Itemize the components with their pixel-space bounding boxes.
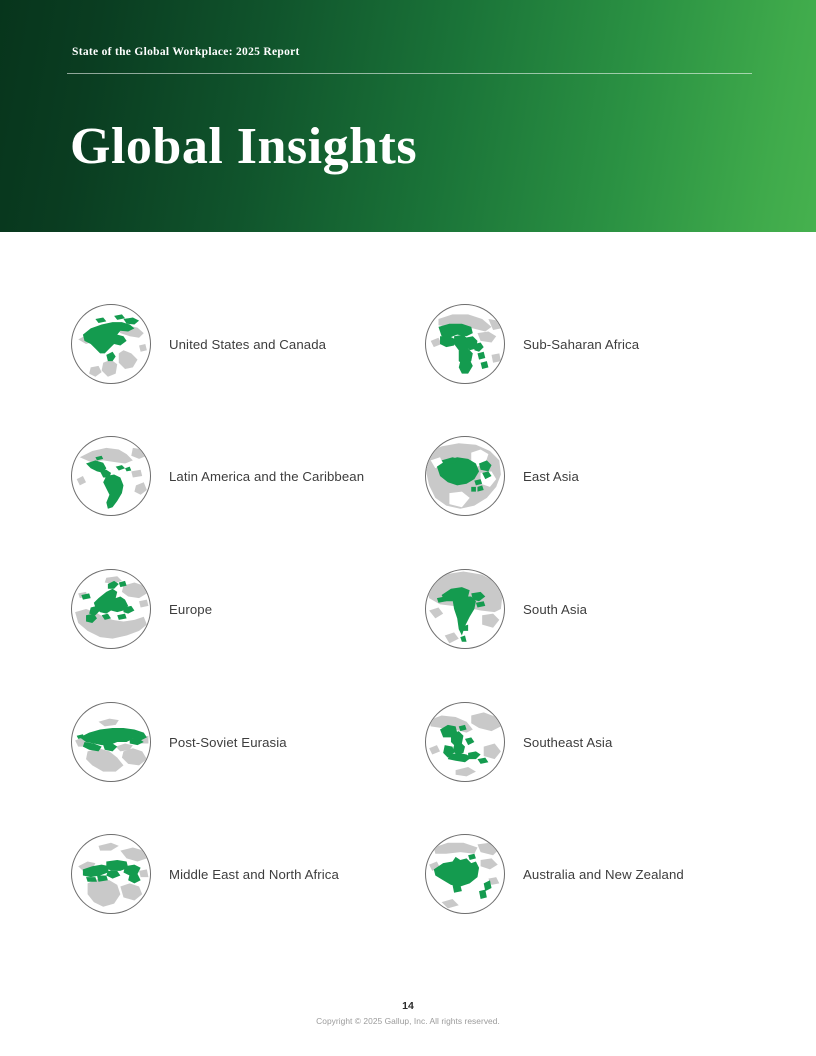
region-label: Sub-Saharan Africa — [523, 337, 639, 352]
page-footer: 14 Copyright © 2025 Gallup, Inc. All rig… — [0, 1000, 816, 1026]
globe-southeast-asia-icon — [425, 702, 505, 782]
globe-europe-icon — [71, 569, 151, 649]
region-label: East Asia — [523, 469, 579, 484]
globe-sub-saharan-africa-icon — [425, 304, 505, 384]
region-item-europe[interactable]: Europe — [71, 569, 212, 649]
region-item-middle-east-and-north-africa[interactable]: Middle East and North Africa — [71, 834, 339, 914]
region-label: Post-Soviet Eurasia — [169, 735, 287, 750]
page-title: Global Insights — [70, 120, 417, 175]
region-label: Australia and New Zealand — [523, 867, 684, 882]
region-item-australia-and-new-zealand[interactable]: Australia and New Zealand — [425, 834, 684, 914]
report-kicker: State of the Global Workplace: 2025 Repo… — [72, 46, 300, 58]
globe-latin-america-icon — [71, 436, 151, 516]
globe-north-america-icon — [71, 304, 151, 384]
page-number: 14 — [0, 1000, 816, 1013]
region-label: Europe — [169, 602, 212, 617]
globe-east-asia-icon — [425, 436, 505, 516]
region-label: South Asia — [523, 602, 587, 617]
region-item-east-asia[interactable]: East Asia — [425, 436, 579, 516]
region-label: United States and Canada — [169, 337, 326, 352]
region-label: Latin America and the Caribbean — [169, 469, 364, 484]
region-label: Southeast Asia — [523, 735, 612, 750]
globe-south-asia-icon — [425, 569, 505, 649]
region-label: Middle East and North Africa — [169, 867, 339, 882]
region-item-south-asia[interactable]: South Asia — [425, 569, 587, 649]
globe-post-soviet-eurasia-icon — [71, 702, 151, 782]
globe-australia-new-zealand-icon — [425, 834, 505, 914]
region-item-latin-america-and-the-caribbean[interactable]: Latin America and the Caribbean — [71, 436, 364, 516]
copyright-notice: Copyright © 2025 Gallup, Inc. All rights… — [0, 1016, 816, 1026]
region-item-post-soviet-eurasia[interactable]: Post-Soviet Eurasia — [71, 702, 287, 782]
globe-middle-east-north-africa-icon — [71, 834, 151, 914]
header-divider — [67, 73, 752, 74]
region-item-southeast-asia[interactable]: Southeast Asia — [425, 702, 612, 782]
region-list: United States and Canada — [0, 232, 816, 972]
header-banner: State of the Global Workplace: 2025 Repo… — [0, 0, 816, 232]
region-item-united-states-and-canada[interactable]: United States and Canada — [71, 304, 326, 384]
region-item-sub-saharan-africa[interactable]: Sub-Saharan Africa — [425, 304, 639, 384]
